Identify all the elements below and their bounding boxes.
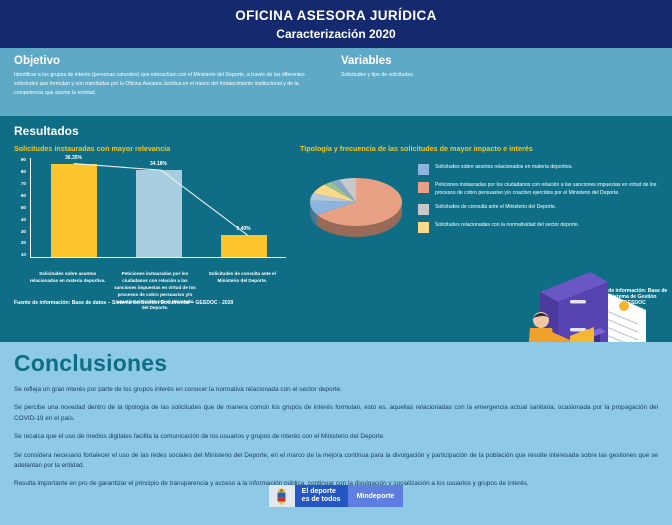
legend-item-3[interactable]: Solicitudes relacionadas con la normativ…: [418, 222, 672, 233]
page-subtitle: Caracterización 2020: [276, 27, 395, 41]
legend-swatch-0: [418, 164, 429, 175]
colombia-coat-of-arms-icon: [269, 485, 295, 507]
conclusiones-list: Se refleja un gran interés por parte de …: [14, 385, 658, 490]
y-tick-1: 80: [21, 170, 26, 175]
objetivo-text: Identificar a los grupos de interés (per…: [14, 71, 316, 98]
bar-wrapper: 36.35%: [50, 158, 98, 257]
page-footer: El deporte es de todos Mindeporte: [0, 481, 672, 525]
bar-chart-column: Solicitudes instauradas con mayor releva…: [0, 144, 292, 312]
legend-label-0: Solicitudes sobre asuntos relacionados e…: [435, 164, 573, 175]
gov-slogan: El deporte es de todos: [295, 485, 348, 507]
variables-section: Variables Solicitudes y tipo de solicitu…: [336, 55, 658, 116]
resultados-heading: Resultados: [14, 124, 672, 138]
infographic-page: OFICINA ASESORA JURÍDICA Caracterización…: [0, 0, 672, 525]
y-tick-4: 50: [21, 206, 26, 211]
variables-heading: Variables: [341, 55, 658, 67]
bar-0[interactable]: 36.35%: [51, 164, 97, 258]
bar-wrapper: 34.18%: [135, 158, 183, 257]
legend-item-0[interactable]: Solicitudes sobre asuntos relacionados e…: [418, 164, 672, 175]
conclusion-paragraph-3: Se considera necesario fortalecer el uso…: [14, 451, 658, 472]
y-tick-3: 60: [21, 194, 26, 199]
government-logo: El deporte es de todos Mindeporte: [269, 485, 404, 507]
y-tick-0: 90: [21, 158, 26, 163]
objetivo-section: Objetivo Identificar a los grupos de int…: [14, 55, 336, 116]
y-tick-7: 20: [21, 241, 26, 246]
legend-swatch-3: [418, 222, 429, 233]
bar-2[interactable]: 9.40%: [221, 235, 267, 257]
bar-value-label-1: 34.18%: [150, 161, 167, 167]
legend-swatch-1: [418, 182, 429, 193]
y-tick-2: 70: [21, 182, 26, 187]
objetivo-variables-band: Objetivo Identificar a los grupos de int…: [0, 48, 672, 116]
bar-chart-bars: 36.35%34.18%9.40%: [31, 158, 286, 257]
pie-chart-legend: Solicitudes sobre asuntos relacionados e…: [418, 158, 672, 249]
conclusiones-section: Conclusiones Se refleja un gran interés …: [0, 342, 672, 525]
pie-chart-svg: [300, 166, 412, 244]
resultados-section: Resultados Solicitudes instauradas con m…: [0, 116, 672, 342]
pie-chart-title: Tipología y frecuencia de las solicitude…: [300, 144, 672, 153]
legend-label-2: Solicitudes de consulta ante el Minister…: [435, 204, 556, 215]
legend-swatch-2: [418, 204, 429, 215]
y-tick-6: 30: [21, 230, 26, 235]
gov-slogan-line2: es de todos: [302, 496, 341, 504]
bar-chart-source: Fuente de información: Base de datos – S…: [14, 300, 233, 306]
bar-value-label-0: 36.35%: [65, 155, 82, 161]
legend-label-3: Solicitudes relacionadas con la normativ…: [435, 222, 579, 233]
y-tick-8: 10: [21, 253, 26, 258]
legend-item-2[interactable]: Solicitudes de consulta ante el Minister…: [418, 204, 672, 215]
variables-text: Solicitudes y tipo de solicitudes.: [341, 71, 658, 80]
pie-chart: [300, 158, 418, 249]
legend-item-1[interactable]: Peticiones instauradas por los ciudadano…: [418, 182, 672, 197]
bar-chart-y-axis: 908070605040302010: [6, 158, 26, 258]
bar-chart: 908070605040302010 36.35%34.18%9.40%: [6, 158, 292, 268]
objetivo-heading: Objetivo: [14, 55, 316, 67]
bar-wrapper: 9.40%: [220, 158, 268, 257]
gov-slogan-line1: El deporte: [302, 488, 341, 496]
conclusiones-heading: Conclusiones: [14, 350, 658, 377]
y-tick-5: 40: [21, 218, 26, 223]
bar-value-label-2: 9.40%: [236, 226, 250, 232]
bar-chart-title: Solicitudes instauradas con mayor releva…: [14, 144, 292, 153]
page-header: OFICINA ASESORA JURÍDICA Caracterización…: [0, 0, 672, 48]
page-title: OFICINA ASESORA JURÍDICA: [235, 8, 437, 23]
bar-1[interactable]: 34.18%: [136, 170, 182, 257]
bar-chart-plot-area: 36.35%34.18%9.40%: [30, 158, 286, 258]
conclusion-paragraph-0: Se refleja un gran interés por parte de …: [14, 385, 658, 395]
conclusion-paragraph-2: Se recalca que el uso de medios digitale…: [14, 432, 658, 442]
legend-label-1: Peticiones instauradas por los ciudadano…: [435, 182, 672, 197]
conclusion-paragraph-1: Se percibe una novedad dentro de la tipo…: [14, 403, 658, 424]
ministry-label: Mindeporte: [348, 485, 404, 507]
